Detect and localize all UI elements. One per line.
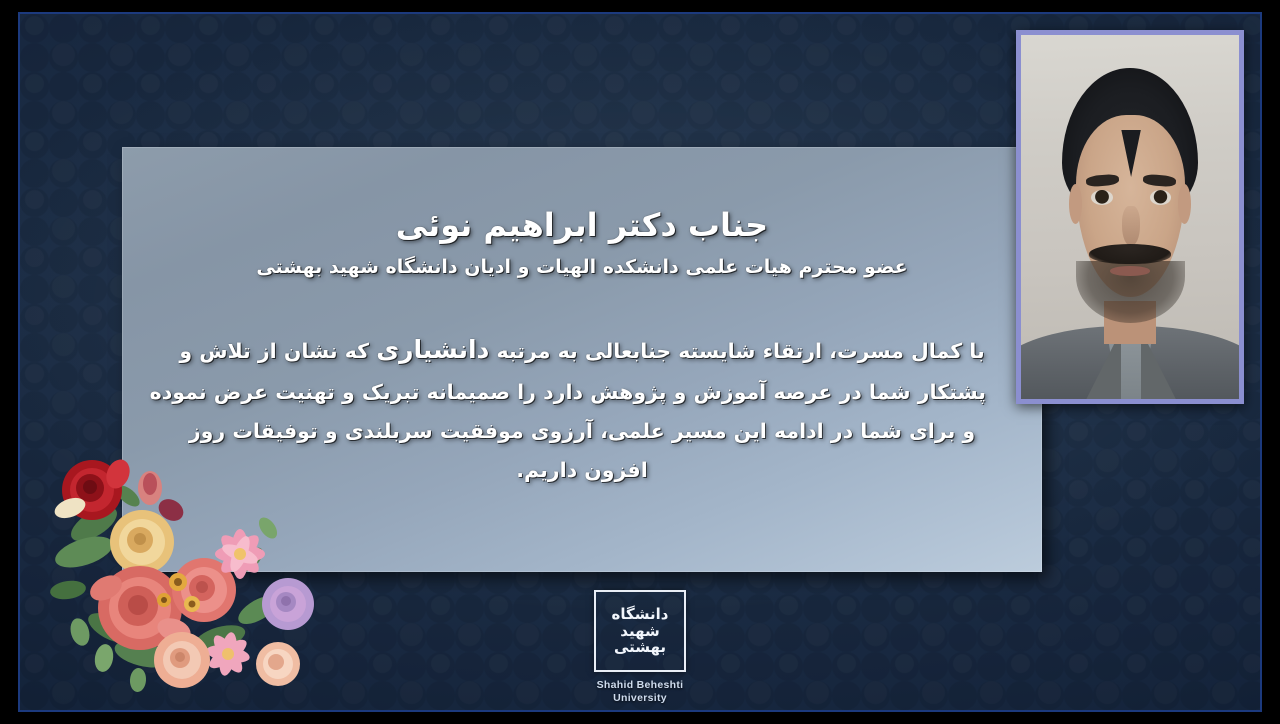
page-subtitle: عضو محترم هیات علمی دانشکده الهیات و ادی… (178, 255, 986, 280)
logo-caption-line-1: Shahid Beheshti (597, 679, 684, 691)
body-line-1-part-a: با کمال مسرت، ارتقاء شایسته جنابعالی به … (497, 339, 985, 363)
portrait-mouth (1110, 266, 1149, 275)
logo-line-1: دانشگاه (612, 605, 669, 623)
portrait-ear-right (1178, 184, 1191, 224)
portrait-photo (1021, 35, 1239, 399)
body-emphasis-rank: دانشیاری (376, 335, 489, 364)
university-logo-mark-text: دانشگاه شهید بهشتی (612, 606, 669, 656)
portrait-eye-right (1150, 190, 1172, 205)
body-line-3: و برای شما در ادامه این مسیر علمی، آرزوی… (178, 412, 986, 451)
university-logo-mark: دانشگاه شهید بهشتی (594, 590, 686, 672)
body-line-4: افزون داریم. (178, 451, 986, 490)
university-logo-caption: Shahid Beheshti University (555, 679, 725, 705)
logo-line-2: شهید (620, 622, 659, 640)
portrait-nose (1122, 206, 1139, 246)
congratulation-body: با کمال مسرت، ارتقاء شایسته جنابعالی به … (178, 326, 986, 490)
bouquet-lavender-rose (262, 578, 314, 630)
body-line-1: با کمال مسرت، ارتقاء شایسته جنابعالی به … (178, 326, 986, 374)
logo-caption-line-2: University (613, 692, 667, 704)
portrait-moustache (1089, 244, 1172, 264)
university-logo: دانشگاه شهید بهشتی Shahid Beheshti Unive… (555, 590, 725, 705)
congratulation-slide: جناب دکتر ابراهیم نوئی عضو محترم هیات عل… (18, 12, 1262, 712)
portrait-eye-left (1091, 190, 1113, 205)
bouquet-small-yellow-blooms (157, 573, 200, 612)
logo-line-3: بهشتی (614, 638, 666, 656)
bouquet-peach-rose-right (256, 642, 300, 686)
bouquet-coral-peony (86, 566, 194, 650)
bouquet-pink-lily-lower (205, 631, 251, 677)
portrait-ear-left (1069, 184, 1082, 224)
body-line-1-part-b: که نشان از تلاش و (179, 339, 369, 363)
bouquet-peach-rose (154, 632, 210, 688)
body-line-2: پشتکار شما در عرصه آموزش و پژوهش دارد را… (178, 373, 986, 412)
content-panel: جناب دکتر ابراهیم نوئی عضو محترم هیات عل… (122, 147, 1042, 572)
page-title: جناب دکتر ابراهیم نوئی (178, 205, 986, 245)
content-panel-inner: جناب دکتر ابراهیم نوئی عضو محترم هیات عل… (122, 147, 1042, 572)
portrait-frame (1016, 30, 1244, 404)
